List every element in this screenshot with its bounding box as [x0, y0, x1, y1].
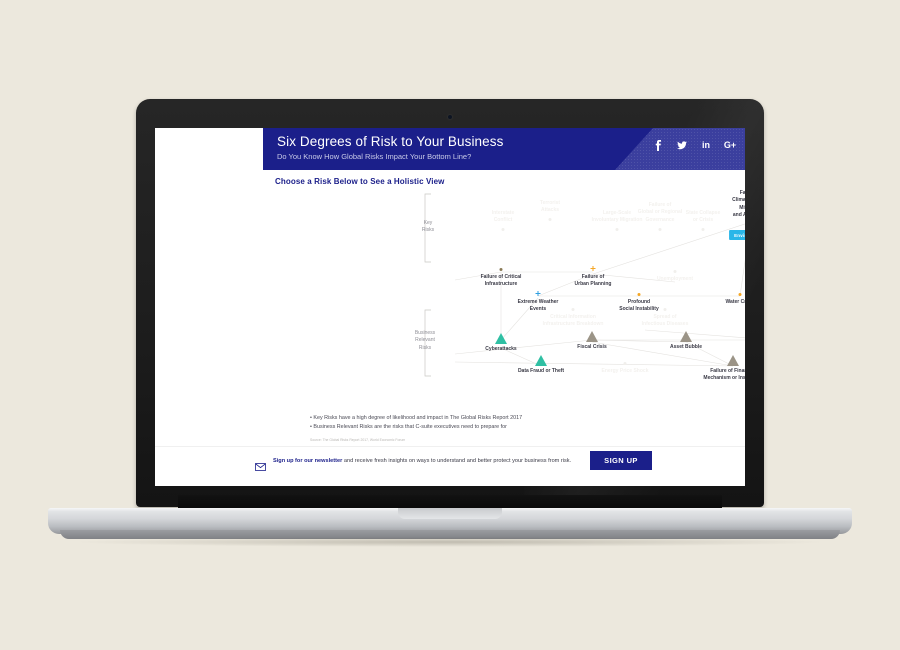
node-marker-dot: [500, 268, 503, 271]
node-label: Spread ofInfectious Diseases: [642, 314, 689, 329]
node-label: Large-ScaleInvoluntary Migration: [592, 210, 643, 225]
note-business-risks: • Business Relevant Risks are the risks …: [310, 423, 640, 432]
node-label: Critical InformationInfrastructure Break…: [543, 314, 604, 329]
node-label: Cyberattacks: [485, 346, 516, 353]
axis-label-business-risks: BusinessRelevantRisks: [405, 330, 445, 352]
tooltip-environmental: Environmental: [729, 230, 745, 240]
node-label: InterstateConflict: [492, 210, 515, 225]
diagram-notes: • Key Risks have a high degree of likeli…: [310, 414, 640, 442]
node-label: Failure ofUrban Planning: [575, 274, 612, 289]
laptop-shadow: [70, 537, 830, 547]
node-marker-plus: [591, 266, 596, 271]
node-marker-triangle: [495, 333, 507, 344]
node-label: TerroristAttacks: [540, 200, 560, 215]
social-links: in G+: [653, 139, 735, 151]
laptop-hinge: [178, 495, 722, 509]
note-key-risks: • Key Risks have a high degree of likeli…: [310, 414, 640, 423]
node-label: Asset Bubble: [670, 344, 702, 351]
newsletter-cta-rest: and receive fresh insights on ways to un…: [342, 458, 571, 464]
node-marker-plus: [536, 291, 541, 296]
webcam-icon: [448, 115, 452, 119]
facebook-icon[interactable]: [653, 139, 663, 151]
node-marker-dot: [616, 228, 619, 231]
node-marker-triangle: [727, 355, 739, 366]
node-label: Failure of CriticalInfrastructure: [481, 274, 522, 289]
axis-label-key-risks: KeyRisks: [408, 220, 448, 235]
node-label: Energy Price Shock: [602, 368, 649, 375]
laptop-base-notch: [398, 508, 502, 519]
node-marker-triangle: [535, 355, 547, 366]
instruction-text: Choose a Risk Below to See a Holistic Vi…: [275, 177, 444, 186]
diagram-source: Source: The Global Risks Report 2017, Wo…: [310, 438, 640, 442]
node-marker-triangle: [680, 331, 692, 342]
envelope-icon: [255, 458, 266, 476]
node-marker-triangle: [586, 331, 598, 342]
page-title: Six Degrees of Risk to Your Business: [277, 134, 503, 149]
node-marker-dot: [549, 218, 552, 221]
googleplus-icon[interactable]: G+: [725, 139, 735, 151]
laptop-screen: Six Degrees of Risk to Your Business Do …: [155, 128, 745, 486]
node-marker-dot: [702, 228, 705, 231]
node-marker-dot: [572, 308, 575, 311]
node-label: Unemployment: [657, 276, 693, 283]
node-marker-dot: [638, 293, 641, 296]
webpage: Six Degrees of Risk to Your Business Do …: [155, 128, 745, 486]
node-label: Data Fraud or Theft: [518, 368, 564, 375]
node-marker-dot: [664, 308, 667, 311]
signup-button[interactable]: SIGN UP: [590, 451, 652, 470]
node-label: ProfoundSocial Instability: [619, 299, 658, 314]
newsletter-cta-bold: Sign up for our newsletter: [273, 458, 342, 464]
linkedin-icon[interactable]: in: [701, 139, 711, 151]
node-label: Water Crisis: [726, 299, 746, 306]
node-label: Failure ofGlobal or RegionalGovernance: [638, 202, 682, 224]
newsletter-footer: Sign up for our newsletter and receive f…: [155, 448, 745, 486]
node-label: State Collapseor Crisis: [686, 210, 720, 225]
site-header: Six Degrees of Risk to Your Business Do …: [263, 128, 745, 170]
node-label: Extreme WeatherEvents: [518, 299, 559, 314]
node-marker-dot: [624, 362, 627, 365]
node-marker-dot: [739, 293, 742, 296]
footer-divider: [155, 446, 745, 447]
twitter-icon[interactable]: [677, 139, 687, 151]
node-label: Failure of FinancialMechanism or Institu…: [703, 368, 745, 383]
node-marker-dot: [674, 270, 677, 273]
newsletter-text: Sign up for our newsletter and receive f…: [273, 458, 571, 465]
page-subtitle: Do You Know How Global Risks Impact Your…: [277, 152, 471, 161]
node-label: Failure ofClimate ChangeMitigationand Ad…: [732, 190, 745, 219]
node-label: Fiscal Crisis: [577, 344, 606, 351]
node-marker-dot: [502, 228, 505, 231]
risk-network-diagram[interactable]: KeyRisks BusinessRelevantRisks Interstat…: [155, 190, 745, 410]
laptop-mockup: Six Degrees of Risk to Your Business Do …: [0, 0, 900, 650]
node-marker-dot: [659, 228, 662, 231]
